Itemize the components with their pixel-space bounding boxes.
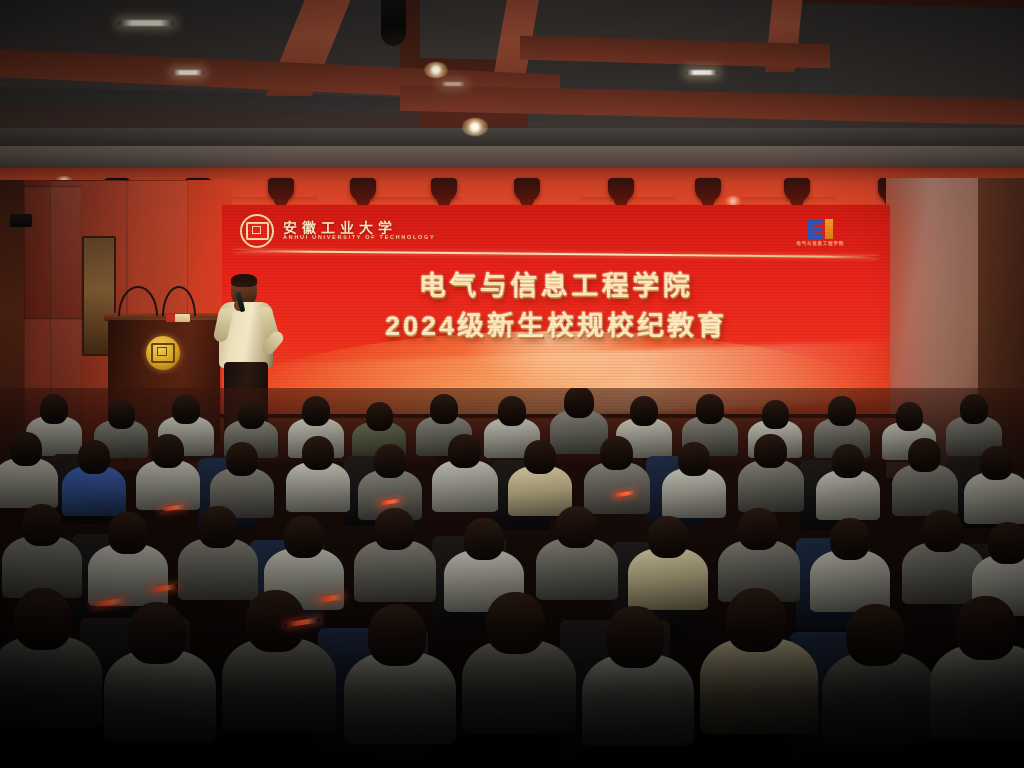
audience-member-head xyxy=(556,506,597,548)
audience-member-head xyxy=(648,516,688,558)
audience-member-head xyxy=(988,522,1024,564)
audience-member-head xyxy=(152,434,184,468)
audience-member-body xyxy=(700,638,818,734)
soffit-vent xyxy=(218,197,318,204)
auditorium-scene: 安徽工业大学 ANHUI UNIVERSITY OF TECHNOLOGY 电气… xyxy=(0,0,1024,768)
audience-member-head xyxy=(726,588,786,652)
audience-member-head xyxy=(40,394,68,424)
conical-spotlight-icon xyxy=(695,178,721,202)
audience-member-head xyxy=(922,510,963,552)
audience-member-head xyxy=(366,402,393,431)
audience-member-head xyxy=(374,444,406,478)
audience-member-head xyxy=(302,396,330,426)
audience-member-head xyxy=(108,400,135,429)
audience-member-body xyxy=(822,652,936,746)
recessed-downlight-icon xyxy=(172,70,204,75)
audience-member-head xyxy=(896,402,923,431)
audience-member-head xyxy=(762,400,789,429)
audience-member-head xyxy=(600,436,633,470)
audience xyxy=(0,388,1024,768)
audience-member-head xyxy=(524,440,556,474)
audience-member-head xyxy=(754,434,787,468)
audience-member-head xyxy=(374,508,415,550)
recessed-downlight-icon xyxy=(424,62,448,78)
audience-member-head xyxy=(830,518,870,560)
audience-member-head xyxy=(738,508,779,550)
audience-member-head xyxy=(980,446,1013,480)
audience-member-head xyxy=(172,394,200,424)
audience-member-head xyxy=(128,602,186,664)
audience-member-head xyxy=(284,516,324,558)
audience-member-head xyxy=(430,394,458,424)
audience-member-head xyxy=(908,438,941,472)
audience-member-head xyxy=(238,400,265,429)
audience-member-head xyxy=(22,504,62,546)
audience-member-head xyxy=(832,444,864,478)
audience-member-head xyxy=(486,592,545,654)
audience-member-head xyxy=(108,512,148,554)
audience-member-head xyxy=(696,394,724,424)
audience-member-head xyxy=(630,396,658,426)
audience-member-body xyxy=(462,640,576,734)
audience-member-head xyxy=(368,604,426,666)
audience-member-head xyxy=(448,434,481,468)
ceiling-speaker-icon xyxy=(381,0,406,46)
audience-member-head xyxy=(78,440,110,474)
recessed-downlight-icon xyxy=(118,20,174,26)
audience-member-head xyxy=(828,396,856,426)
ceiling-band xyxy=(0,146,1024,168)
audience-member-head xyxy=(846,604,905,666)
audience-member-head xyxy=(564,388,594,418)
audience-member-head xyxy=(606,606,664,668)
recessed-downlight-icon xyxy=(440,82,466,86)
podium-name-card-accent xyxy=(166,314,175,322)
presenter-hair xyxy=(231,274,257,287)
audience-member-head xyxy=(226,442,258,476)
audience-member-head xyxy=(678,442,710,476)
audience-member-head xyxy=(960,394,988,424)
wall-speaker-icon xyxy=(10,214,32,227)
recessed-downlight-icon xyxy=(686,70,718,75)
conical-spotlight-icon xyxy=(514,178,540,202)
ceiling xyxy=(0,0,1024,168)
audience-member-head xyxy=(14,588,72,650)
university-crest-icon xyxy=(146,336,180,370)
recessed-downlight-icon xyxy=(462,118,488,136)
audience-member-head xyxy=(198,506,238,548)
ceiling-band xyxy=(0,128,1024,146)
audience-member-head xyxy=(302,436,334,470)
audience-member-head xyxy=(956,596,1016,660)
audience-member-head xyxy=(498,396,526,426)
audience-member-head xyxy=(464,518,504,560)
audience-member-head xyxy=(10,432,42,466)
audience-member-body xyxy=(222,638,336,732)
